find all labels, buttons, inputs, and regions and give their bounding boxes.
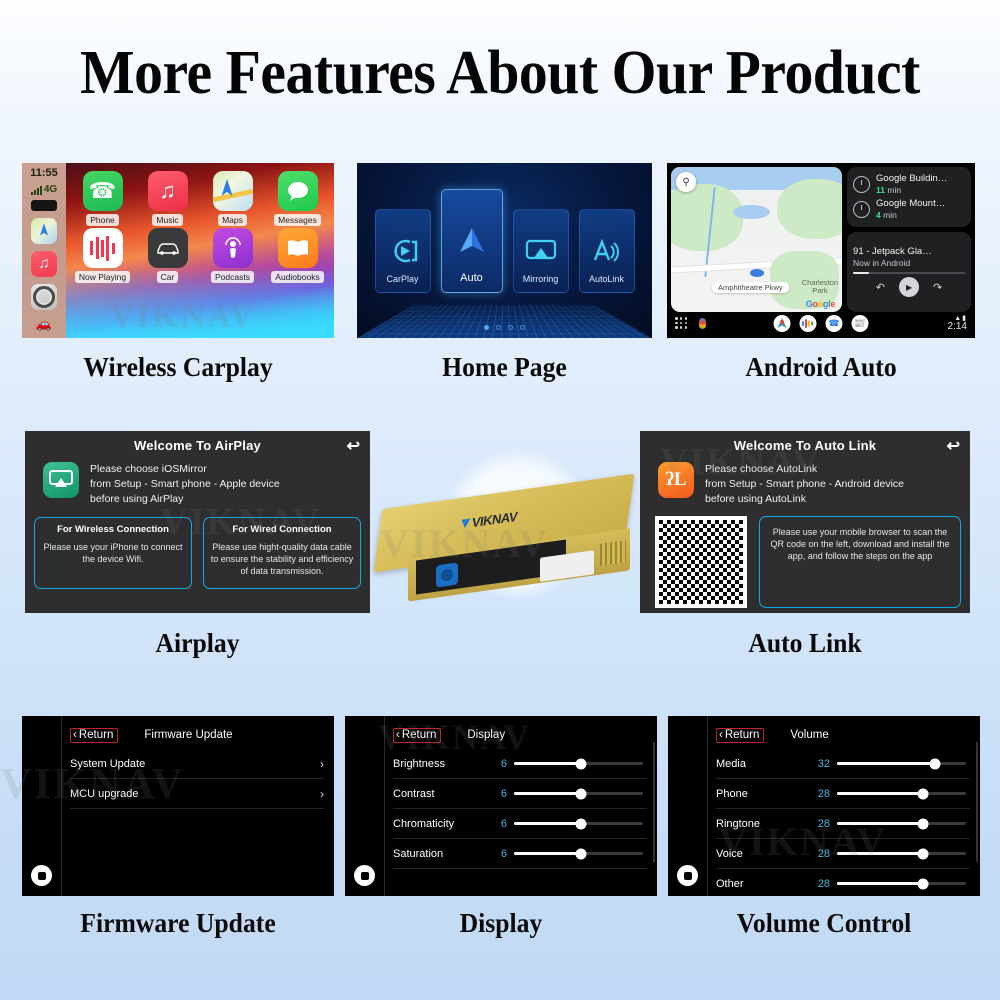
row-value: 6 [485, 848, 507, 860]
now-playing-icon [83, 228, 123, 268]
caption-volume-control: Volume Control [676, 908, 972, 939]
back-arrow-icon[interactable]: ↩ [947, 436, 960, 456]
tile-label: Auto [460, 272, 483, 284]
car-icon[interactable]: 🚗 [36, 316, 52, 332]
return-button[interactable]: ‹ Return [393, 728, 441, 743]
carplay-sidebar: 11:55 4G ♫ 🚗 [22, 163, 66, 338]
slider-knob[interactable] [918, 818, 929, 829]
carplay-app-audiobooks[interactable]: Audiobooks [267, 228, 328, 283]
instructions-text: Please choose iOSMirrorfrom Setup - Smar… [90, 462, 280, 507]
page-title: Display [467, 729, 505, 741]
carplay-clock: 11:55 [30, 168, 58, 180]
volume-setting-row[interactable]: Phone28 [716, 779, 970, 809]
carplay-icon [388, 231, 418, 271]
caption-airplay: Airplay [34, 628, 362, 659]
settings-icon[interactable] [31, 284, 57, 310]
box-body: Please use your iPhone to connect the de… [41, 541, 185, 565]
row-label: Brightness [393, 758, 485, 770]
row-value: 32 [808, 758, 830, 770]
clock-icon [853, 201, 870, 218]
tile-label: CarPlay [386, 274, 418, 284]
android-auto-icon [455, 221, 489, 261]
slider-fill [514, 762, 581, 765]
app-label: Messages [274, 214, 321, 226]
slider-knob[interactable] [918, 848, 929, 859]
row-value: 28 [808, 878, 830, 890]
row-value: 28 [808, 818, 830, 830]
forward-icon[interactable]: ↷ [933, 281, 942, 294]
slider[interactable] [514, 822, 643, 825]
navigation-suggestions-card[interactable]: Google Buildin… 11 min Google Mount… 4 m… [847, 167, 971, 227]
settings-rail [22, 716, 62, 896]
mesh-background [357, 304, 652, 338]
wireless-connection-box: For Wireless Connection Please use your … [34, 517, 192, 589]
scrollbar[interactable] [653, 742, 655, 862]
app-label: Music [152, 214, 182, 226]
search-icon[interactable]: ⚲ [676, 172, 696, 192]
panel-wireless-carplay: 11:55 4G ♫ 🚗 ☎ Phone ♫ Music [22, 163, 334, 338]
carplay-app-podcasts[interactable]: Podcasts [202, 228, 263, 283]
phone-icon[interactable]: ☎ [826, 315, 843, 332]
taskbar: ☎ 📰 ▲▮ 2:14 [671, 312, 971, 334]
carplay-network-label: 4G [44, 184, 57, 195]
slider-fill [837, 822, 923, 825]
display-setting-row[interactable]: Brightness6 [393, 749, 647, 779]
slider-knob[interactable] [576, 788, 587, 799]
app-grid-icon[interactable] [675, 317, 687, 329]
caption-firmware-update: Firmware Update [18, 908, 337, 939]
maps-icon[interactable] [774, 315, 791, 332]
assistant-icon[interactable] [800, 315, 817, 332]
return-label: Return [79, 729, 114, 741]
progress-bar[interactable] [853, 272, 965, 274]
settings-row-mcu-upgrade[interactable]: MCU upgrade › [70, 779, 324, 809]
panel-volume-control: ‹ Return Volume Media32Phone28Ringtone28… [668, 716, 980, 896]
news-icon[interactable]: 📰 [852, 315, 869, 332]
box-heading: For Wired Connection [210, 524, 354, 535]
caption-android-auto: Android Auto [675, 352, 968, 383]
panel-firmware-update: ‹ Return Firmware Update System Update ›… [22, 716, 334, 896]
page-title: Volume [790, 729, 828, 741]
rewind-icon[interactable]: ↶ [876, 281, 885, 294]
product-device-image: VIKNAV [368, 492, 640, 596]
row-value: 6 [485, 758, 507, 770]
slider-knob[interactable] [930, 758, 941, 769]
row-label: System Update [70, 758, 145, 770]
street-label: Amphitheatre Pkwy [712, 282, 789, 293]
podcasts-icon [213, 228, 253, 268]
back-arrow-icon[interactable]: ↩ [347, 436, 360, 456]
carplay-home-screen: ☎ Phone ♫ Music Maps Messages [66, 163, 334, 338]
car-icon [148, 228, 188, 268]
wired-connection-box: For Wired Connection Please use hight-qu… [203, 517, 361, 589]
display-setting-row[interactable]: Saturation6 [393, 839, 647, 869]
page-title: Welcome To Auto Link [649, 438, 961, 453]
panel-display: ‹ Return Display Brightness6Contrast6Chr… [345, 716, 657, 896]
panel-home-page: CarPlay Auto Mirroring AutoLink [357, 163, 652, 338]
airplay-icon [43, 462, 79, 498]
display-setting-row[interactable]: Chromaticity6 [393, 809, 647, 839]
media-player-card[interactable]: 91 - Jetpack Gla… Now in Android ↶ ▶ ↷ [847, 232, 971, 312]
slider[interactable] [837, 852, 966, 855]
row-label: Media [716, 758, 808, 770]
fakra-connector [436, 562, 458, 587]
messages-icon [278, 171, 318, 211]
mirroring-icon [525, 231, 557, 271]
return-button[interactable]: ‹ Return [716, 728, 764, 743]
row-value: 6 [485, 788, 507, 800]
chevron-right-icon: › [320, 787, 324, 801]
slider-fill [837, 882, 923, 885]
track-title: 91 - Jetpack Gla… [853, 246, 965, 257]
row-label: Chromaticity [393, 818, 485, 830]
page-title: Welcome To AirPlay [34, 438, 361, 453]
slider[interactable] [514, 762, 643, 765]
slider-knob[interactable] [918, 788, 929, 799]
volume-setting-row[interactable]: Voice28 [716, 839, 970, 869]
slider[interactable] [837, 822, 966, 825]
clock-label: 2:14 [948, 322, 967, 332]
maps-icon[interactable] [31, 218, 57, 244]
home-tile-carplay[interactable]: CarPlay [375, 209, 431, 293]
settings-rail [668, 716, 708, 896]
chevron-left-icon: ‹ [719, 729, 723, 741]
row-label: Ringtone [716, 818, 808, 830]
page-title: Firmware Update [144, 729, 232, 741]
app-label: Maps [218, 214, 247, 226]
return-label: Return [402, 729, 437, 741]
home-button-icon[interactable] [354, 865, 375, 886]
chevron-left-icon: ‹ [396, 729, 400, 741]
home-button-icon[interactable] [677, 865, 698, 886]
page-title: More Features About Our Product [35, 38, 965, 109]
map-view[interactable]: ⚲ Amphitheatre Pkwy CharlestonPark Googl… [671, 167, 842, 312]
clock-icon [853, 176, 870, 193]
carplay-signal: 4G [31, 184, 57, 195]
carplay-app-car[interactable]: Car [137, 228, 198, 283]
music-icon[interactable]: ♫ [31, 251, 57, 277]
slider[interactable] [837, 792, 966, 795]
audiobooks-icon [278, 228, 318, 268]
home-tile-autolink[interactable]: AutoLink [579, 209, 635, 293]
destination-name: Google Buildin… [876, 174, 947, 185]
home-tile-auto[interactable]: Auto [441, 189, 503, 293]
box-body: Please use hight-quality data cable to e… [210, 541, 354, 577]
note-body: Please use your mobile browser to scan t… [767, 526, 953, 562]
qr-code-image [655, 516, 747, 608]
caption-auto-link: Auto Link [648, 628, 962, 659]
slider-knob[interactable] [918, 878, 929, 889]
slider[interactable] [837, 882, 966, 885]
caption-wireless-carplay: Wireless Carplay [30, 352, 326, 383]
chevron-left-icon: ‹ [73, 729, 77, 741]
settings-row-system-update[interactable]: System Update › [70, 749, 324, 779]
app-label: Podcasts [211, 271, 254, 283]
volume-setting-row[interactable]: Other28 [716, 869, 970, 896]
row-label: Other [716, 878, 808, 890]
track-subtitle: Now in Android [853, 258, 965, 268]
slider-fill [837, 762, 935, 765]
page-indicator[interactable] [357, 325, 652, 330]
volume-setting-row[interactable]: Ringtone28 [716, 809, 970, 839]
slider-fill [514, 792, 581, 795]
row-value: 28 [808, 788, 830, 800]
slider-fill [514, 822, 581, 825]
scrollbar[interactable] [976, 742, 978, 862]
carplay-app-messages[interactable]: Messages [267, 171, 328, 226]
box-heading: For Wireless Connection [41, 524, 185, 535]
eta-unit: min [887, 185, 901, 195]
eta-value: 4 [876, 210, 881, 220]
autolink-note-box: Please use your mobile browser to scan t… [759, 516, 961, 608]
return-label: Return [725, 729, 760, 741]
row-label: Voice [716, 848, 808, 860]
row-label: Phone [716, 788, 808, 800]
slider[interactable] [837, 762, 966, 765]
autolink-icon [591, 231, 623, 271]
slider-knob[interactable] [576, 818, 587, 829]
carplay-app-maps[interactable]: Maps [202, 171, 263, 226]
app-label: Car [157, 271, 179, 283]
phone-icon: ☎ [83, 171, 123, 211]
row-label: MCU upgrade [70, 788, 138, 800]
battery-icon [31, 200, 57, 211]
slider-fill [837, 852, 923, 855]
slider-knob[interactable] [576, 848, 587, 859]
instructions-text: Please choose AutoLinkfrom Setup - Smart… [705, 462, 904, 507]
tile-label: AutoLink [589, 274, 624, 284]
slider[interactable] [514, 792, 643, 795]
app-label: Audiobooks [271, 271, 323, 283]
music-icon: ♫ [148, 171, 188, 211]
app-label: Now Playing [75, 271, 130, 283]
slider-fill [837, 792, 923, 795]
settings-rail [345, 716, 385, 896]
nav-suggestion-row[interactable]: Google Mount… 4 min [853, 197, 965, 222]
carplay-app-music[interactable]: ♫ Music [137, 171, 198, 226]
microphone-icon[interactable] [699, 318, 706, 329]
display-setting-row[interactable]: Contrast6 [393, 779, 647, 809]
row-value: 6 [485, 818, 507, 830]
eta-unit: min [883, 210, 897, 220]
panel-airplay: Welcome To AirPlay ↩ Please choose iOSMi… [25, 431, 370, 613]
home-tile-mirroring[interactable]: Mirroring [513, 209, 569, 293]
eta-value: 11 [876, 185, 885, 195]
current-location-marker [750, 269, 764, 277]
return-button[interactable]: ‹ Return [70, 728, 118, 743]
slider[interactable] [514, 852, 643, 855]
tile-label: Mirroring [523, 274, 559, 284]
park-label: CharlestonPark [802, 279, 838, 296]
slider-knob[interactable] [576, 758, 587, 769]
home-button-icon[interactable] [31, 865, 52, 886]
nav-suggestion-row[interactable]: Google Buildin… 11 min [853, 172, 965, 197]
row-label: Contrast [393, 788, 485, 800]
chevron-right-icon: › [320, 757, 324, 771]
google-logo: Google [806, 299, 835, 309]
autolink-icon: ʔL [658, 462, 694, 498]
destination-name: Google Mount… [876, 199, 945, 210]
volume-setting-row[interactable]: Media32 [716, 749, 970, 779]
panel-android-auto: ⚲ Amphitheatre Pkwy CharlestonPark Googl… [667, 163, 975, 338]
row-label: Saturation [393, 848, 485, 860]
maps-icon [213, 171, 253, 211]
carplay-app-phone[interactable]: ☎ Phone [72, 171, 133, 226]
slider-fill [514, 852, 581, 855]
app-label: Phone [86, 214, 119, 226]
panel-auto-link: Welcome To Auto Link ↩ ʔL Please choose … [640, 431, 970, 613]
caption-display: Display [353, 908, 649, 939]
row-value: 28 [808, 848, 830, 860]
carplay-app-now-playing[interactable]: Now Playing [72, 228, 133, 283]
caption-home-page: Home Page [364, 352, 644, 383]
play-button[interactable]: ▶ [899, 277, 919, 297]
